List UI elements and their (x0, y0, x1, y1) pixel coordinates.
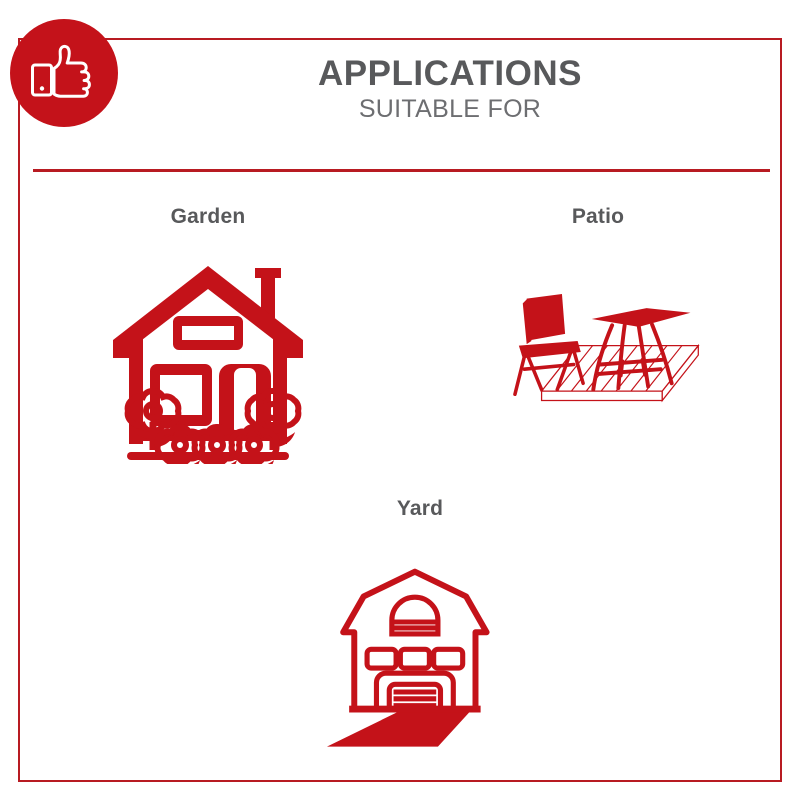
header-divider (33, 169, 770, 172)
application-item-patio: Patio (493, 206, 703, 475)
thumbs-up-icon (29, 41, 99, 105)
header-block: APPLICATIONS SUITABLE FOR (130, 55, 770, 127)
application-item-garden: Garden (103, 206, 313, 475)
item-label-patio: Patio (493, 206, 703, 227)
house-with-flowers-icon (103, 243, 313, 475)
application-item-yard: Yard (315, 498, 525, 781)
page-subtitle: SUITABLE FOR (130, 93, 770, 127)
thumbs-up-badge (10, 19, 118, 127)
applications-infographic: APPLICATIONS SUITABLE FOR Garden (0, 0, 800, 800)
barn-with-driveway-icon (315, 533, 525, 781)
item-label-garden: Garden (103, 206, 313, 227)
item-label-yard: Yard (315, 498, 525, 519)
patio-table-chair-deck-icon (493, 243, 703, 475)
page-title: APPLICATIONS (130, 55, 770, 93)
